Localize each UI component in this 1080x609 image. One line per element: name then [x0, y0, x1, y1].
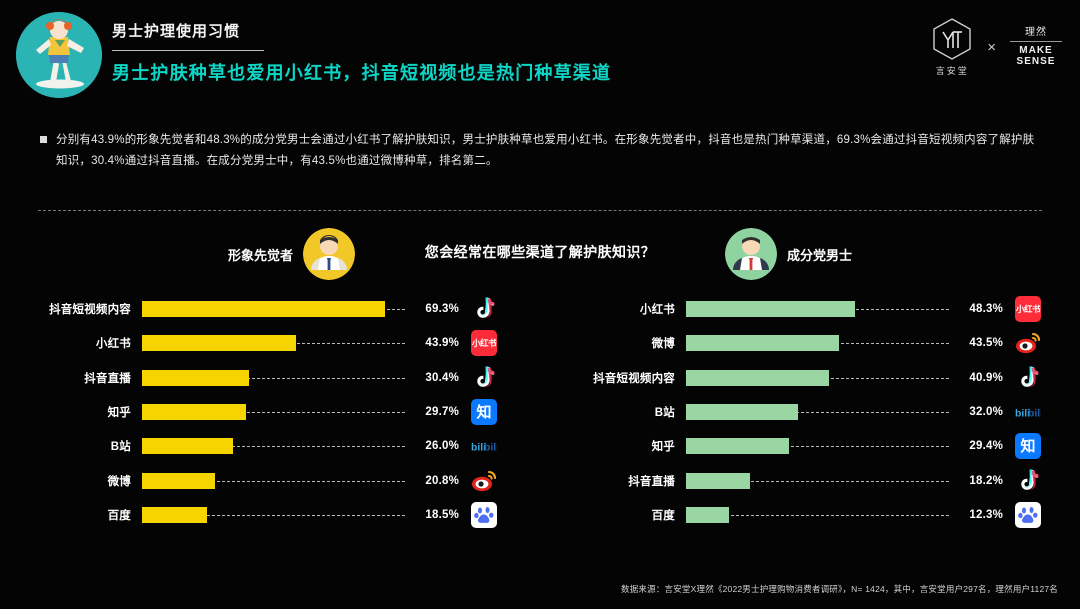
- douyin-icon: [471, 365, 497, 391]
- chart-row: 知乎29.7%知: [36, 395, 501, 429]
- header-text-group: 男士护理使用习惯 男士护肤种草也爱用小红书，抖音短视频也是热门种草渠道: [112, 22, 611, 85]
- make-sense-logo: 理然 MAKE SENSE: [1010, 27, 1062, 67]
- category-label: 微博: [580, 335, 686, 351]
- persona-left-avatar: [303, 228, 355, 280]
- slide-root: 男士护理使用习惯 男士护肤种草也爱用小红书，抖音短视频也是热门种草渠道 言安堂: [0, 0, 1080, 609]
- platform-logo: bilibili: [1003, 399, 1045, 425]
- bar: [142, 370, 249, 386]
- platform-logo: 小红书: [459, 330, 501, 356]
- yat-hexagon-icon: [931, 17, 973, 61]
- bar: [686, 438, 789, 454]
- bilibili-icon: bilibili: [471, 433, 497, 459]
- bar-track: [686, 507, 949, 523]
- platform-logo: [1003, 468, 1045, 494]
- section-divider: [38, 210, 1042, 211]
- weibo-icon: [1015, 330, 1041, 356]
- bar: [142, 301, 385, 317]
- baidu-icon: [1015, 502, 1041, 528]
- chart-row: 抖音直播30.4%: [36, 361, 501, 395]
- value-label: 20.8%: [405, 475, 459, 487]
- yat-logo: 言安堂: [931, 17, 973, 77]
- logo-group: 言安堂 × 理然 MAKE SENSE: [931, 14, 1062, 80]
- bar-track: [686, 301, 949, 317]
- platform-logo: 小红书: [1003, 296, 1045, 322]
- bilibili-icon: bilibili: [1015, 399, 1041, 425]
- zhihu-icon: 知: [1015, 433, 1041, 459]
- category-label: B站: [580, 404, 686, 420]
- value-label: 18.5%: [405, 509, 459, 521]
- chart-question-title: 您会经常在哪些渠道了解护肤知识？: [425, 242, 655, 262]
- platform-logo: [1003, 502, 1045, 528]
- value-label: 43.5%: [949, 337, 1003, 349]
- source-note: 数据来源：言安堂X理然《2022男士护理购物消费者调研》，N= 1424，其中，…: [621, 583, 1058, 595]
- platform-logo: bilibili: [459, 433, 501, 459]
- chart-row: 知乎29.4%知: [580, 429, 1045, 463]
- bar-track: [142, 473, 405, 489]
- persona-right: 成分党男士: [725, 228, 852, 280]
- bar-chart-right: 小红书48.3%小红书微博43.5%抖音短视频内容40.9%B站32.0%bil…: [580, 292, 1045, 532]
- chart-row: B站26.0%bilibili: [36, 429, 501, 463]
- make-sense-en-line2: SENSE: [1017, 56, 1056, 67]
- category-label: 知乎: [36, 404, 142, 420]
- persona-left-label: 形象先觉者: [228, 245, 293, 264]
- bar: [142, 507, 207, 523]
- category-label: 微博: [36, 473, 142, 489]
- platform-logo: 知: [459, 399, 501, 425]
- bar-track: [142, 370, 405, 386]
- platform-logo: [1003, 365, 1045, 391]
- category-label: 抖音直播: [580, 473, 686, 489]
- category-label: 抖音直播: [36, 370, 142, 386]
- chart-row: 小红书43.9%小红书: [36, 326, 501, 360]
- category-label: 百度: [36, 507, 142, 523]
- bar-track: [686, 335, 949, 351]
- bar-track: [142, 507, 405, 523]
- chart-row: 微博20.8%: [36, 463, 501, 497]
- bar: [142, 335, 296, 351]
- summary-text: 分别有43.9%的形象先觉者和48.3%的成分党男士会通过小红书了解护肤知识，男…: [56, 130, 1040, 172]
- category-label: 知乎: [580, 438, 686, 454]
- bar: [686, 404, 798, 420]
- bar-track: [142, 335, 405, 351]
- value-label: 43.9%: [405, 337, 459, 349]
- category-label: B站: [36, 438, 142, 454]
- bar: [686, 473, 750, 489]
- xiaohongshu-icon: 小红书: [1015, 296, 1041, 322]
- platform-logo: [459, 468, 501, 494]
- value-label: 12.3%: [949, 509, 1003, 521]
- platform-logo: [459, 365, 501, 391]
- make-sense-en-line1: MAKE: [1019, 45, 1052, 56]
- chart-row: B站32.0%bilibili: [580, 395, 1045, 429]
- chart-row: 百度18.5%: [36, 498, 501, 532]
- platform-logo: 知: [1003, 433, 1045, 459]
- douyin-icon: [1015, 468, 1041, 494]
- value-label: 69.3%: [405, 303, 459, 315]
- zhihu-icon: 知: [471, 399, 497, 425]
- chart-row: 抖音短视频内容40.9%: [580, 361, 1045, 395]
- bar-track: [686, 473, 949, 489]
- summary-bullet: 分别有43.9%的形象先觉者和48.3%的成分党男士会通过小红书了解护肤知识，男…: [40, 130, 1040, 172]
- yat-logo-cn-text: 言安堂: [936, 64, 969, 77]
- platform-logo: [1003, 330, 1045, 356]
- surfer-illustration-icon: [16, 12, 102, 98]
- bar: [142, 404, 246, 420]
- chart-row: 抖音短视频内容69.3%: [36, 292, 501, 326]
- douyin-icon: [1015, 365, 1041, 391]
- persona-left: 形象先觉者: [228, 228, 355, 280]
- bar-track: [142, 301, 405, 317]
- category-label: 百度: [580, 507, 686, 523]
- make-sense-rule: [1010, 41, 1062, 42]
- douyin-icon: [471, 296, 497, 322]
- bar: [686, 370, 829, 386]
- slide-header: 男士护理使用习惯 男士护肤种草也爱用小红书，抖音短视频也是热门种草渠道 言安堂: [0, 0, 1080, 105]
- bar: [686, 507, 729, 523]
- value-label: 26.0%: [405, 440, 459, 452]
- platform-logo: [459, 296, 501, 322]
- chart-row: 百度12.3%: [580, 498, 1045, 532]
- chart-row: 微博43.5%: [580, 326, 1045, 360]
- bar-track: [686, 370, 949, 386]
- category-label: 小红书: [580, 301, 686, 317]
- logo-separator-x: ×: [987, 39, 996, 56]
- persona-header-row: 形象先觉者 您会经常在哪些渠道了解护肤知识？: [0, 228, 1080, 288]
- bar-track: [686, 438, 949, 454]
- value-label: 32.0%: [949, 406, 1003, 418]
- bar: [686, 335, 839, 351]
- weibo-icon: [471, 468, 497, 494]
- value-label: 29.4%: [949, 440, 1003, 452]
- bar-track: [686, 404, 949, 420]
- svg-text:bili: bili: [484, 443, 497, 454]
- xiaohongshu-icon: 小红书: [471, 330, 497, 356]
- svg-text:bili: bili: [1028, 408, 1041, 419]
- platform-logo: [459, 502, 501, 528]
- bar-chart-left: 抖音短视频内容69.3%小红书43.9%小红书抖音直播30.4%知乎29.7%知…: [36, 292, 501, 532]
- baidu-icon: [471, 502, 497, 528]
- bullet-square-icon: [40, 136, 47, 143]
- bar-track: [142, 438, 405, 454]
- category-label: 抖音短视频内容: [580, 370, 686, 386]
- chart-row: 小红书48.3%小红书: [580, 292, 1045, 326]
- value-label: 29.7%: [405, 406, 459, 418]
- page-title: 男士护肤种草也爱用小红书，抖音短视频也是热门种草渠道: [112, 61, 611, 85]
- persona-right-avatar: [725, 228, 777, 280]
- category-label: 小红书: [36, 335, 142, 351]
- value-label: 18.2%: [949, 475, 1003, 487]
- value-label: 30.4%: [405, 372, 459, 384]
- bar: [142, 438, 233, 454]
- header-kicker: 男士护理使用习惯: [112, 22, 611, 47]
- persona-right-label: 成分党男士: [787, 245, 852, 264]
- chart-row: 抖音直播18.2%: [580, 463, 1045, 497]
- value-label: 48.3%: [949, 303, 1003, 315]
- value-label: 40.9%: [949, 372, 1003, 384]
- category-label: 抖音短视频内容: [36, 301, 142, 317]
- bar-track: [142, 404, 405, 420]
- header-underline: [112, 50, 264, 51]
- bar: [142, 473, 215, 489]
- bar: [686, 301, 855, 317]
- make-sense-cn-text: 理然: [1025, 27, 1047, 38]
